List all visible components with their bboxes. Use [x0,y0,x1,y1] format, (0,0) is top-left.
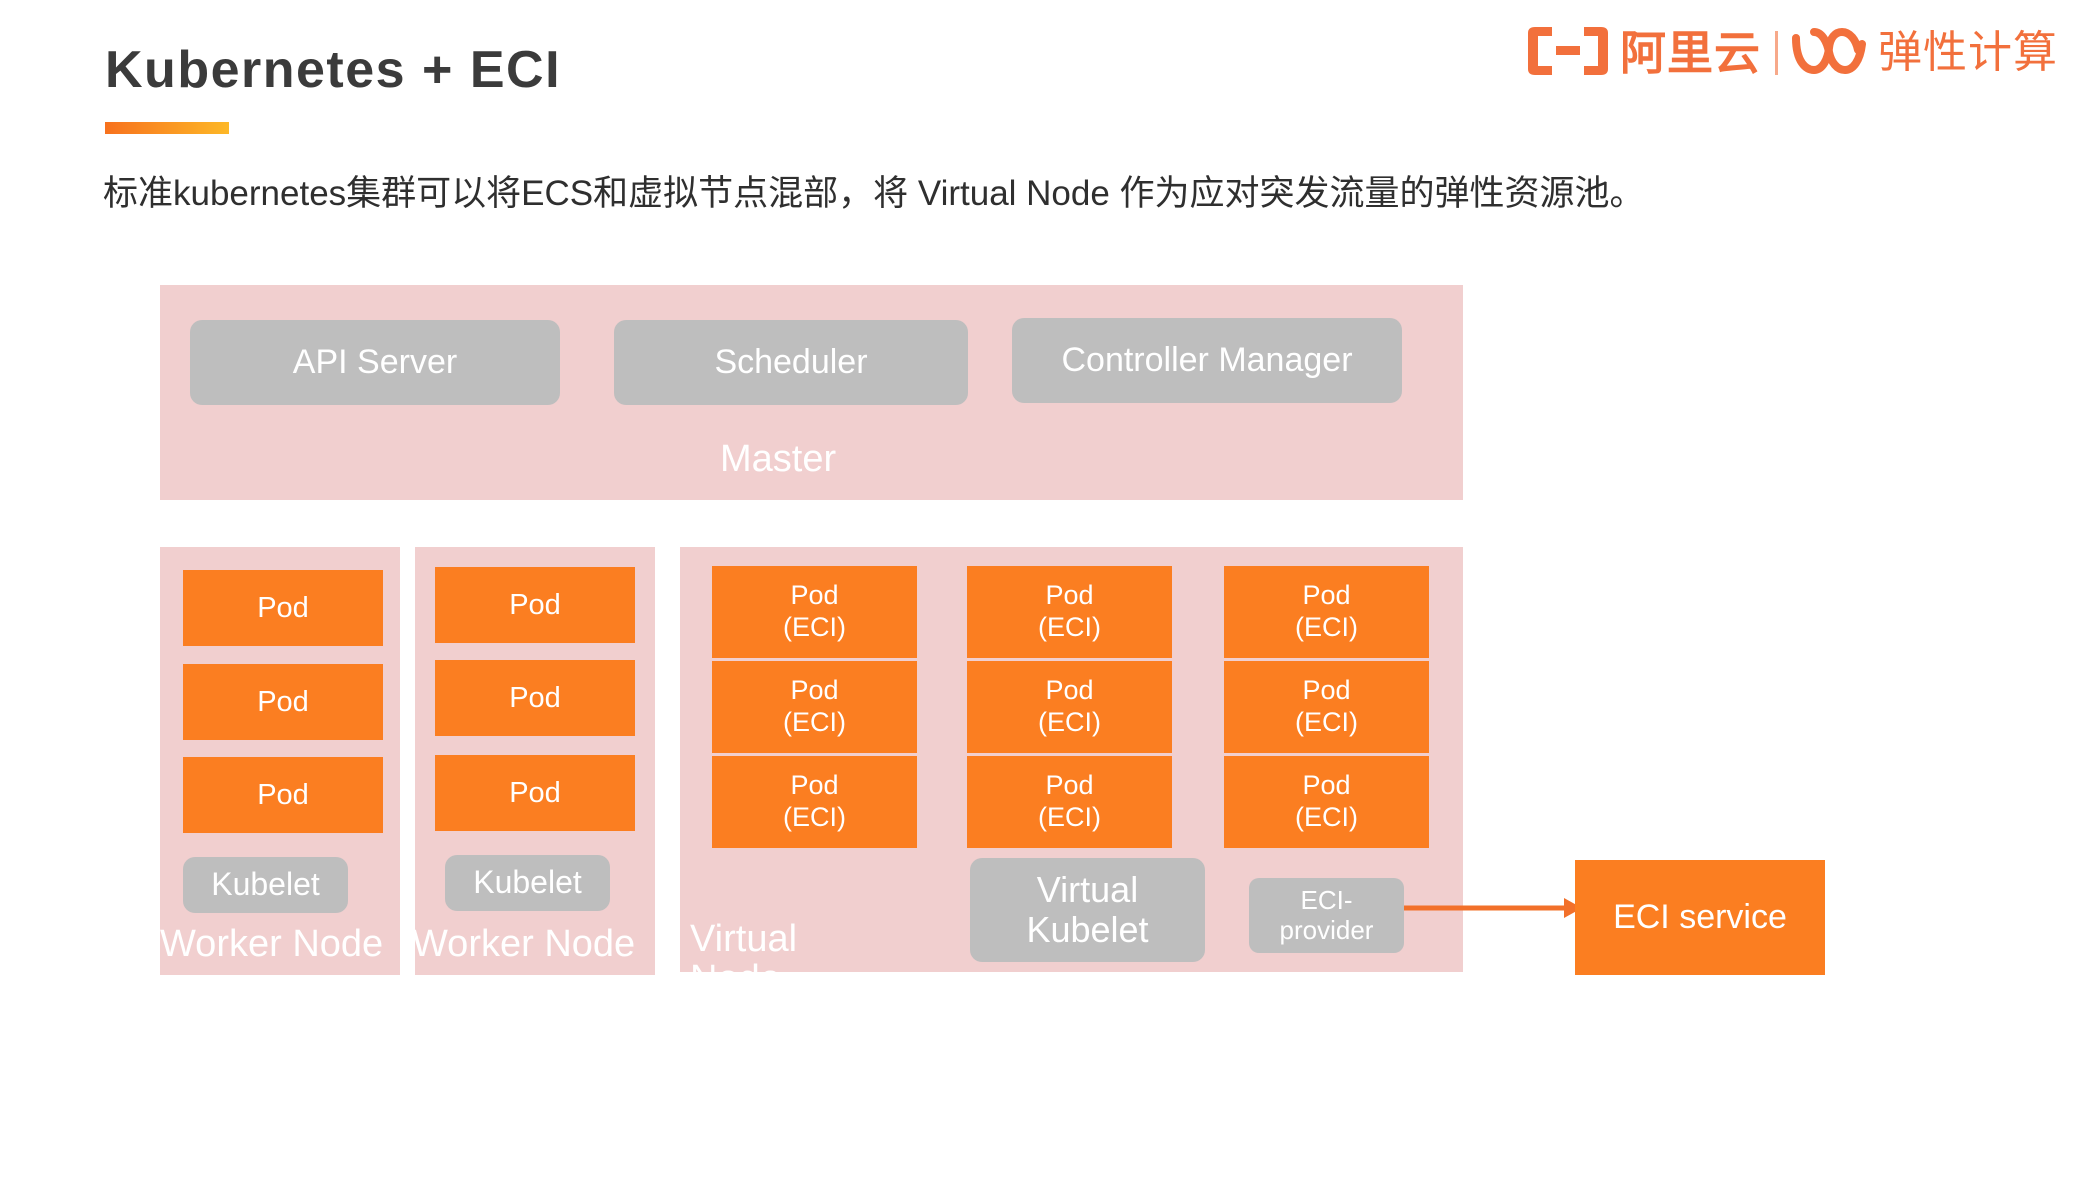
pod-eci-label: Pod (ECI) [783,675,846,739]
page-title: Kubernetes + ECI [105,40,561,100]
pod-eci-label: Pod (ECI) [1295,770,1358,834]
logo-divider [1775,31,1778,75]
pod-eci-box[interactable]: Pod (ECI) [1224,566,1429,658]
pod-label: Pod [509,588,561,622]
master-component-scheduler[interactable]: Scheduler [614,320,968,405]
pod-eci-box[interactable]: Pod (ECI) [712,566,917,658]
eci-provider-box[interactable]: ECI- provider [1249,878,1404,953]
pod-label: Pod [257,591,309,625]
pod-box[interactable]: Pod [435,755,635,831]
brand-name-cn: 阿里云 [1620,30,1761,76]
eci-provider-label: ECI- provider [1280,886,1374,944]
master-component-controller-manager[interactable]: Controller Manager [1012,318,1402,403]
pod-eci-box[interactable]: Pod (ECI) [1224,661,1429,753]
worker-node-panel-label: Worker Node [412,925,635,965]
pod-label: Pod [257,685,309,719]
master-component-label: Controller Manager [1061,341,1352,379]
master-component-api-server[interactable]: API Server [190,320,560,405]
pod-box[interactable]: Pod [183,757,383,833]
worker-node-panel-label: Worker Node [160,925,383,965]
pod-eci-label: Pod (ECI) [1038,580,1101,644]
pod-eci-box[interactable]: Pod (ECI) [967,566,1172,658]
brand-mark: 阿里云 [1526,25,1761,82]
eci-provider-to-service-arrow [1404,893,1584,923]
kubelet-box[interactable]: Kubelet [445,855,610,911]
pod-eci-box[interactable]: Pod (ECI) [712,661,917,753]
pod-eci-label: Pod (ECI) [783,770,846,834]
pod-label: Pod [257,778,309,812]
virtual-kubelet-label: Virtual Kubelet [1026,870,1148,951]
master-component-label: API Server [293,343,457,381]
kubelet-box[interactable]: Kubelet [183,857,348,913]
master-component-label: Scheduler [714,343,867,381]
pod-box[interactable]: Pod [183,664,383,740]
master-panel-label: Master [720,440,836,480]
virtual-kubelet-box[interactable]: Virtual Kubelet [970,858,1205,962]
pod-eci-box[interactable]: Pod (ECI) [712,756,917,848]
pod-box[interactable]: Pod [183,570,383,646]
sub-brand-name-cn: 弹性计算 [1878,31,2058,75]
kubelet-label: Kubelet [211,867,320,903]
sub-brand: 弹性计算 [1792,28,2058,79]
page-subtitle: 标准kubernetes集群可以将ECS和虚拟节点混部，将 Virtual No… [103,165,1645,216]
eci-service-box[interactable]: ECI service [1575,860,1825,975]
pod-eci-label: Pod (ECI) [1038,675,1101,739]
title-accent-underline [105,122,229,134]
elastic-wave-icon [1792,28,1866,79]
pod-label: Pod [509,776,561,810]
pod-eci-label: Pod (ECI) [1038,770,1101,834]
pod-eci-box[interactable]: Pod (ECI) [1224,756,1429,848]
virtual-node-panel-label: Virtual Node [690,920,850,1000]
pod-box[interactable]: Pod [435,567,635,643]
pod-eci-box[interactable]: Pod (ECI) [967,661,1172,753]
kubelet-label: Kubelet [473,865,582,901]
pod-eci-box[interactable]: Pod (ECI) [967,756,1172,848]
eci-service-label: ECI service [1613,898,1787,937]
pod-eci-label: Pod (ECI) [1295,675,1358,739]
pod-eci-label: Pod (ECI) [783,580,846,644]
alibaba-cloud-logo: 阿里云 弹性计算 [1526,22,2058,84]
pod-box[interactable]: Pod [435,660,635,736]
alibaba-cloud-bracket-icon [1526,25,1610,82]
pod-label: Pod [509,681,561,715]
pod-eci-label: Pod (ECI) [1295,580,1358,644]
